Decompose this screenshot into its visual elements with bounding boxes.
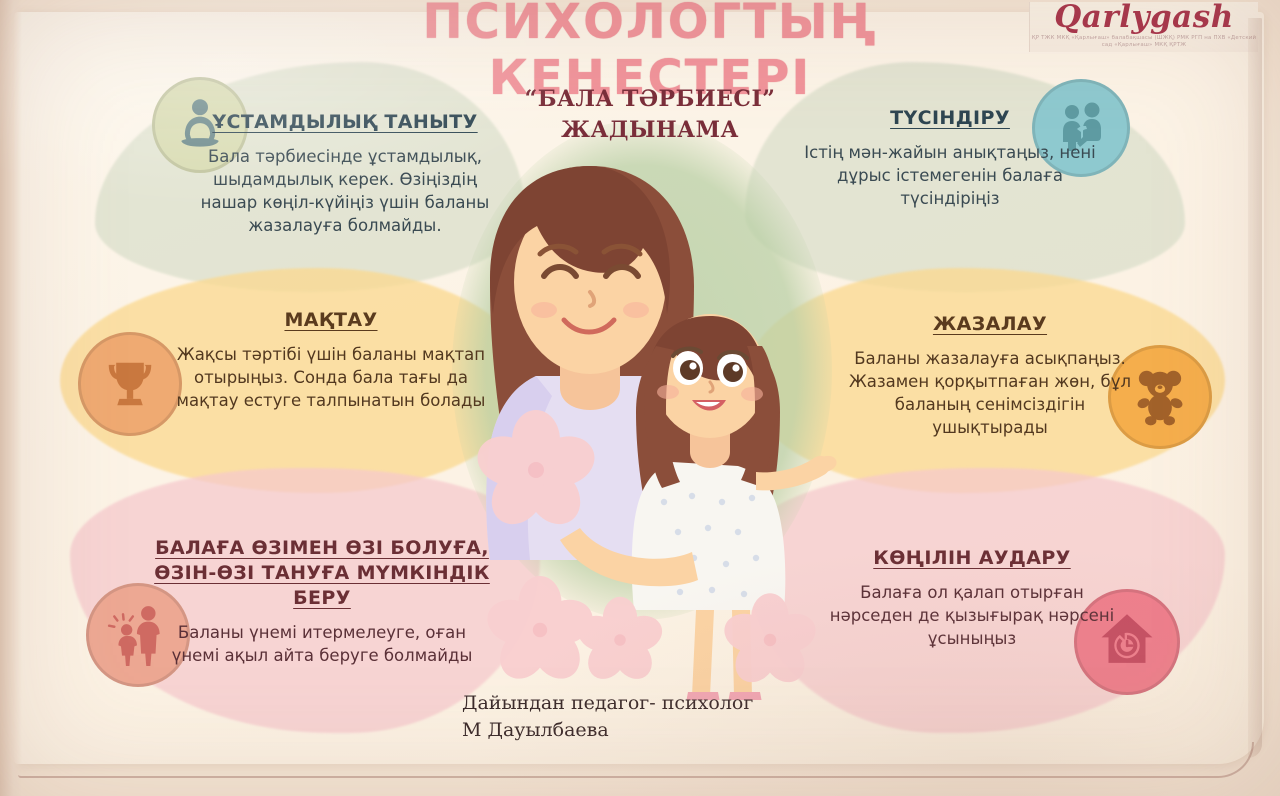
tip-attention-body: Балаға ол қалап отырған нәрседен де қызы…: [822, 581, 1122, 650]
page-left-edge: [0, 0, 22, 796]
brand-logo: Qarlygash ҚР ТЖК МКҚ «Қарлығаш» балабақш…: [1029, 2, 1258, 52]
credit-line-1: Дайындан педагог- психолог: [462, 690, 882, 717]
psychologist-advice-poster: ПСИХОЛОГТЫҢ КЕҢЕСТЕРІ Qarlygash ҚР ТЖК М…: [0, 0, 1280, 796]
card-right-edge: [1248, 18, 1262, 758]
tip-punish: ЖАЗАЛАУ Баланы жазалауға асықпаңыз. Жаза…: [840, 312, 1140, 439]
brand-name: Qarlygash: [1030, 2, 1258, 32]
trophy-icon: [96, 350, 164, 418]
tip-punish-heading: ЖАЗАЛАУ: [840, 312, 1140, 337]
brand-subtext: ҚР ТЖК МКҚ «Қарлығаш» балабақшасы (ШЖҚ) …: [1030, 35, 1258, 49]
tip-explain-body: Істің мән-жайын анықтаңыз, нені дұрыс іс…: [800, 141, 1100, 210]
tip-explain: ТҮСІНДІРУ Істің мән-жайын анықтаңыз, нен…: [800, 106, 1100, 210]
badge-praise: [78, 332, 182, 436]
center-heading-line-1: “БАЛА ТӘРБИЕСІ”: [480, 84, 820, 115]
credit-line-2: М Дауылбаева: [462, 717, 882, 744]
tip-attention: КӨҢІЛІН АУДАРУ Балаға ол қалап отырған н…: [822, 546, 1122, 650]
mother-hugging-daughter-illustration: [440, 140, 840, 700]
credit-block: Дайындан педагог- психолог М Дауылбаева: [462, 690, 882, 744]
tip-punish-body: Баланы жазалауға асықпаңыз. Жазамен қорқ…: [840, 347, 1140, 439]
tip-restraint-heading: ҰСТАМДЫЛЫҚ ТАНЫТУ: [190, 110, 500, 135]
tip-attention-heading: КӨҢІЛІН АУДАРУ: [822, 546, 1122, 571]
center-heading: “БАЛА ТӘРБИЕСІ” ЖАДЫНАМА: [480, 84, 820, 146]
tip-explain-heading: ТҮСІНДІРУ: [800, 106, 1100, 131]
